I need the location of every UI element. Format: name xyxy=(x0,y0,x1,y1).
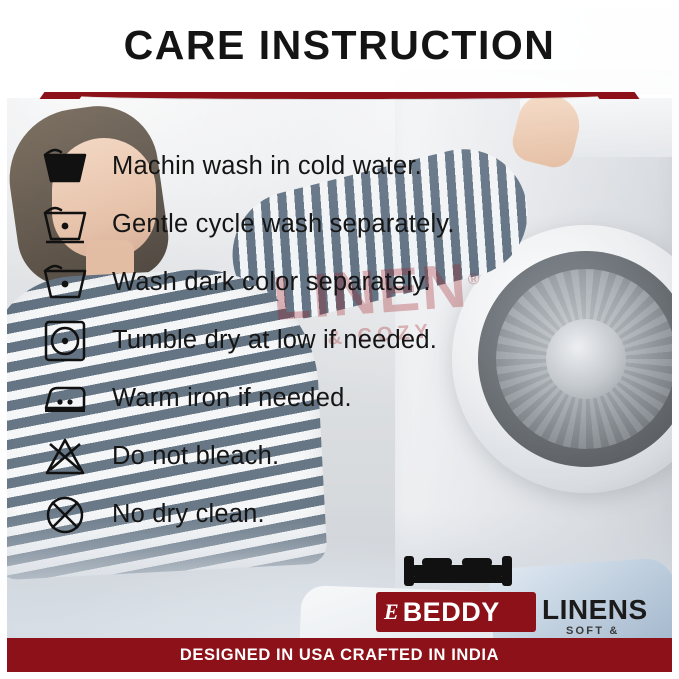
list-item-label: No dry clean. xyxy=(112,500,265,529)
footer-bar: DESIGNED IN USA CRAFTED IN INDIA xyxy=(7,638,672,672)
list-item: Tumble dry at low if needed. xyxy=(36,314,506,367)
list-item: Machin wash in cold water. xyxy=(36,140,506,193)
warm-iron-icon xyxy=(36,375,94,423)
list-item: Do not bleach. xyxy=(36,430,506,483)
page-title: CARE INSTRUCTION xyxy=(0,22,679,69)
list-item-label: Tumble dry at low if needed. xyxy=(112,326,437,355)
no-dry-clean-icon xyxy=(36,491,94,539)
care-instruction-card: LINEN® & COZY CARE INSTRUCTION Machin wa… xyxy=(0,0,679,679)
list-item: Gentle cycle wash separately. xyxy=(36,198,506,251)
tumble-dry-low-icon xyxy=(36,317,94,365)
list-item-label: Wash dark color separately. xyxy=(112,268,431,297)
wash-tub-one-dot-icon xyxy=(36,201,94,249)
wash-tub-filled-icon xyxy=(36,143,94,191)
list-item: Warm iron if needed. xyxy=(36,372,506,425)
bed-icon xyxy=(402,552,514,592)
list-item-label: Machin wash in cold water. xyxy=(112,152,422,181)
list-item-label: Warm iron if needed. xyxy=(112,384,352,413)
footer-text: DESIGNED IN USA CRAFTED IN INDIA xyxy=(180,646,499,665)
list-item-label: Gentle cycle wash separately. xyxy=(112,210,455,239)
list-item-label: Do not bleach. xyxy=(112,442,279,471)
beddy-name: BEDDY xyxy=(403,597,500,628)
brand-logo: E BEDDY LINENS SOFT & COZY xyxy=(366,552,656,642)
care-instruction-list: Machin wash in cold water. Gentle cycle … xyxy=(36,140,506,546)
beddy-monogram: E xyxy=(384,599,399,625)
list-item: Wash dark color separately. xyxy=(36,256,506,309)
beddy-wordmark-plate: E BEDDY xyxy=(376,592,536,632)
do-not-bleach-icon xyxy=(36,433,94,481)
list-item: No dry clean. xyxy=(36,488,506,541)
wash-tub-one-dot-outline-icon xyxy=(36,259,94,307)
linens-word: LINENS xyxy=(542,594,648,626)
title-divider xyxy=(72,92,607,99)
